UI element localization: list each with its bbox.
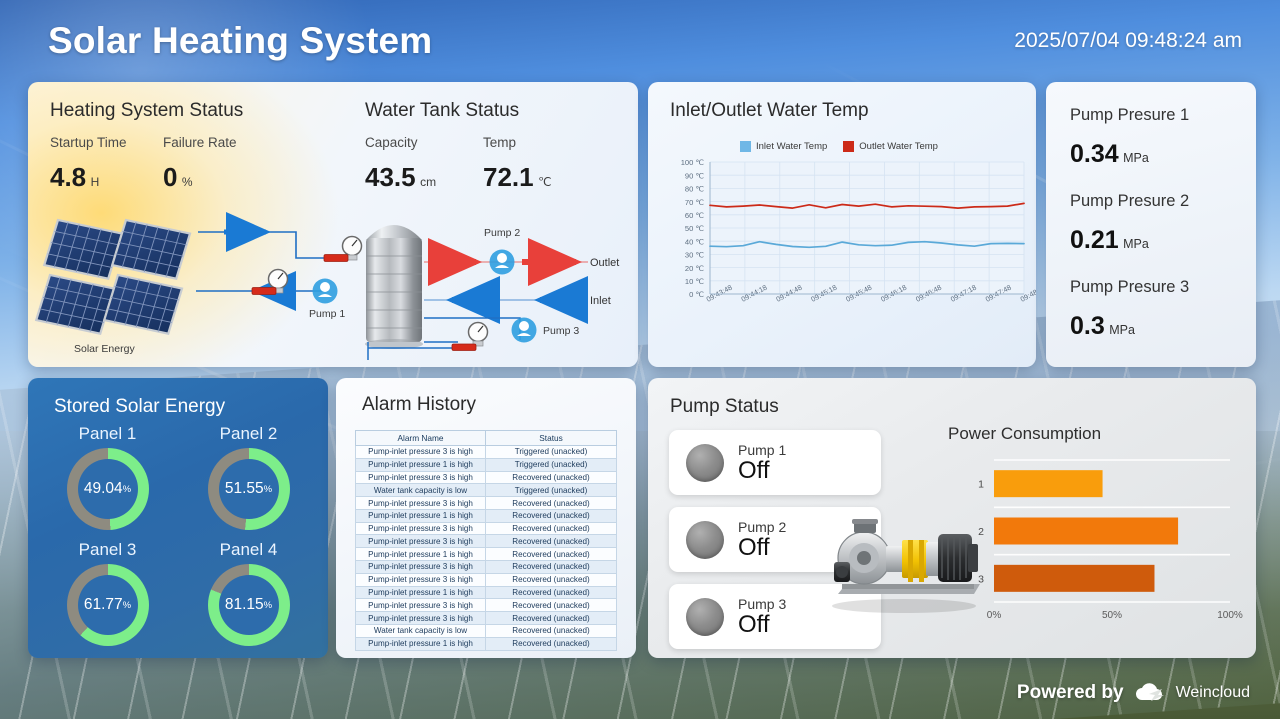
legend-swatch-outlet	[843, 141, 854, 152]
alarm-name-cell: Pump-inlet pressure 1 is high	[356, 586, 486, 599]
alarm-name-cell: Pump-inlet pressure 3 is high	[356, 599, 486, 612]
alarm-name-cell: Pump-inlet pressure 3 is high	[356, 573, 486, 586]
alarm-row[interactable]: Pump-inlet pressure 1 is highRecovered (…	[356, 509, 617, 522]
alarm-row[interactable]: Pump-inlet pressure 1 is highRecovered (…	[356, 548, 617, 561]
alarm-name-cell: Pump-inlet pressure 3 is high	[356, 535, 486, 548]
panel-2-gauge: 51.55%	[208, 448, 290, 530]
legend-item-outlet[interactable]: Outlet Water Temp	[843, 141, 938, 152]
panel-3-label: Panel 3	[56, 540, 159, 560]
alarm-row[interactable]: Pump-inlet pressure 3 is highRecovered (…	[356, 599, 617, 612]
alarm-status-cell: Recovered (unacked)	[486, 497, 617, 510]
footer-branding: Powered by Weincloud	[1017, 681, 1250, 705]
pump-1-name: Pump 1	[738, 442, 786, 458]
alarm-status-cell: Recovered (unacked)	[486, 637, 617, 650]
pump-3-state: Off	[738, 612, 786, 637]
kpi-label-temp: Temp	[483, 135, 552, 150]
alarm-status-cell: Triggered (unacked)	[486, 446, 617, 459]
panel-4-value: 81.15	[225, 596, 264, 614]
power-consumption-bar-chart[interactable]: 1230%50%100%	[964, 452, 1244, 642]
temperature-line-chart[interactable]: 0 ℃10 ℃20 ℃30 ℃40 ℃50 ℃60 ℃70 ℃80 ℃90 ℃1…	[648, 154, 1036, 359]
power-bar-category-label: 1	[978, 479, 984, 491]
kpi-label-failure-rate: Failure Rate	[163, 135, 237, 150]
panel-1-label: Panel 1	[56, 424, 159, 444]
panel-1-gauge: 49.04%	[67, 448, 149, 530]
panel-4-label: Panel 4	[197, 540, 300, 560]
valve-icon	[252, 288, 276, 295]
y-axis-tick: 60 ℃	[685, 211, 705, 220]
panel-2-value: 51.55	[225, 480, 264, 498]
pump-status-card: Pump Status Pump 1 Off Pump 2 Off Pump 3…	[648, 378, 1256, 658]
pump-pressure-3-value: 0.3	[1070, 312, 1105, 340]
kpi-unit-failure-rate: %	[182, 175, 193, 189]
panel-4-gauge: 81.15%	[208, 564, 290, 646]
power-x-axis-tick: 100%	[1217, 610, 1243, 621]
solar-gauge-panel-1[interactable]: Panel 1 49.04%	[56, 424, 159, 530]
alarm-status-cell: Recovered (unacked)	[486, 535, 617, 548]
y-axis-tick: 50 ℃	[685, 224, 705, 233]
alarm-row[interactable]: Water tank capacity is lowTriggered (una…	[356, 484, 617, 497]
brand-name: Weincloud	[1176, 684, 1250, 702]
alarm-row[interactable]: Pump-inlet pressure 3 is highRecovered (…	[356, 573, 617, 586]
alarm-name-cell: Water tank capacity is low	[356, 484, 486, 497]
solar-panel-array-icon	[36, 220, 190, 334]
kpi-value-failure-rate: 0	[163, 162, 177, 192]
centrifugal-pump-illustration	[824, 506, 984, 616]
alarm-row[interactable]: Pump-inlet pressure 3 is highRecovered (…	[356, 497, 617, 510]
legend-label-outlet: Outlet Water Temp	[859, 141, 938, 152]
y-axis-tick: 0 ℃	[689, 290, 704, 299]
power-bar-category-label: 3	[978, 573, 984, 585]
pump-1-state: Off	[738, 458, 786, 483]
alarm-status-cell: Recovered (unacked)	[486, 573, 617, 586]
power-bar[interactable]	[994, 470, 1103, 497]
chart-legend: Inlet Water Temp Outlet Water Temp	[740, 141, 938, 152]
pump-3-label: Pump 3	[543, 325, 579, 337]
legend-swatch-inlet	[740, 141, 751, 152]
alarm-status-cell: Recovered (unacked)	[486, 599, 617, 612]
pump-2-state: Off	[738, 535, 786, 560]
pump-3-status-led	[686, 598, 724, 636]
pump-2-icon	[490, 250, 515, 275]
page-title: Solar Heating System	[48, 20, 432, 62]
power-bar[interactable]	[994, 518, 1178, 545]
kpi-value-temp: 72.1	[483, 162, 534, 192]
water-tank-status-title: Water Tank Status	[365, 100, 519, 122]
y-axis-tick: 100 ℃	[681, 158, 705, 167]
pressure-gauge-icon	[469, 323, 488, 347]
pump-1-icon	[313, 279, 338, 304]
y-axis-tick: 80 ℃	[685, 185, 705, 194]
heating-system-overview-card: Heating System Status Water Tank Status …	[28, 82, 638, 367]
pump-status-title: Pump Status	[670, 396, 779, 418]
pump-pressure-2-value: 0.21	[1070, 226, 1119, 254]
panel-4-unit: %	[264, 600, 272, 611]
alarm-status-cell: Triggered (unacked)	[486, 458, 617, 471]
alarm-name-cell: Pump-inlet pressure 3 is high	[356, 612, 486, 625]
alarm-name-cell: Pump-inlet pressure 3 is high	[356, 471, 486, 484]
pump-1-label: Pump 1	[309, 308, 345, 320]
panel-3-value: 61.77	[84, 596, 123, 614]
alarm-status-cell: Recovered (unacked)	[486, 612, 617, 625]
alarm-history-card: Alarm History Alarm Name Status Pump-inl…	[336, 378, 636, 658]
y-axis-tick: 70 ℃	[685, 198, 705, 207]
kpi-value-capacity: 43.5	[365, 162, 416, 192]
kpi-value-startup-time: 4.8	[50, 162, 86, 192]
pump-1-status-led	[686, 444, 724, 482]
system-schematic-diagram: Solar Energy Pump 1	[28, 200, 638, 360]
panel-1-unit: %	[123, 484, 131, 495]
alarm-table-header-row: Alarm Name Status	[356, 431, 617, 446]
alarm-row[interactable]: Pump-inlet pressure 1 is highRecovered (…	[356, 586, 617, 599]
pump-pressure-3-unit: MPa	[1109, 323, 1135, 337]
alarm-status-cell: Recovered (unacked)	[486, 548, 617, 561]
alarm-name-cell: Water tank capacity is low	[356, 624, 486, 637]
pump-2-label: Pump 2	[484, 227, 520, 239]
kpi-unit-capacity: cm	[420, 175, 436, 189]
power-x-axis-tick: 0%	[987, 610, 1002, 621]
kpi-label-startup-time: Startup Time	[50, 135, 127, 150]
alarm-status-cell: Recovered (unacked)	[486, 586, 617, 599]
alarm-row[interactable]: Water tank capacity is lowRecovered (una…	[356, 624, 617, 637]
panel-2-unit: %	[264, 484, 272, 495]
solar-gauge-panel-3[interactable]: Panel 3 61.77%	[56, 540, 159, 646]
panel-3-unit: %	[123, 600, 131, 611]
alarm-status-cell: Recovered (unacked)	[486, 471, 617, 484]
power-bar-category-label: 2	[978, 526, 984, 538]
solar-gauge-grid: Panel 1 49.04% Panel 2 51.55% Panel 3	[56, 424, 300, 646]
outlet-label: Outlet	[590, 257, 619, 269]
alarm-row[interactable]: Pump-inlet pressure 3 is highTriggered (…	[356, 446, 617, 459]
powered-by-text: Powered by	[1017, 682, 1124, 704]
pump-pressure-2-unit: MPa	[1123, 237, 1149, 251]
alarm-status-cell: Recovered (unacked)	[486, 561, 617, 574]
alarm-name-cell: Pump-inlet pressure 1 is high	[356, 509, 486, 522]
y-axis-tick: 40 ℃	[685, 237, 705, 246]
solar-energy-label: Solar Energy	[74, 343, 135, 355]
pump-pressure-3-label: Pump Presure 3	[1070, 278, 1189, 297]
alarm-row[interactable]: Pump-inlet pressure 3 is highRecovered (…	[356, 471, 617, 484]
water-tank-icon	[365, 225, 423, 349]
inlet-label: Inlet	[590, 295, 611, 307]
alarm-row[interactable]: Pump-inlet pressure 3 is highRecovered (…	[356, 561, 617, 574]
pump-pressure-2-label: Pump Presure 2	[1070, 192, 1189, 211]
stored-solar-energy-title: Stored Solar Energy	[54, 396, 225, 418]
chart-title: Inlet/Outlet Water Temp	[670, 100, 869, 122]
alarm-name-cell: Pump-inlet pressure 1 is high	[356, 458, 486, 471]
panel-1-value: 49.04	[84, 480, 123, 498]
pump-3-name: Pump 3	[738, 596, 786, 612]
pump-pressure-card: Pump Presure 1 0.34 MPa Pump Presure 2 0…	[1046, 82, 1256, 367]
alarm-name-cell: Pump-inlet pressure 3 is high	[356, 497, 486, 510]
kpi-unit-temp: ℃	[538, 175, 551, 189]
legend-item-inlet[interactable]: Inlet Water Temp	[740, 141, 827, 152]
heating-system-status-title: Heating System Status	[50, 100, 243, 122]
pump-pressure-1-label: Pump Presure 1	[1070, 106, 1189, 125]
power-bar[interactable]	[994, 565, 1154, 592]
y-axis-tick: 90 ℃	[685, 171, 705, 180]
y-axis-tick: 30 ℃	[685, 251, 705, 260]
y-axis-tick: 10 ℃	[685, 277, 705, 286]
power-consumption-title: Power Consumption	[948, 424, 1101, 444]
alarm-column-status: Status	[486, 431, 617, 446]
panel-3-gauge: 61.77%	[67, 564, 149, 646]
kpi-label-capacity: Capacity	[365, 135, 436, 150]
pump-3-icon	[512, 318, 537, 343]
solar-gauge-panel-2[interactable]: Panel 2 51.55%	[197, 424, 300, 530]
alarm-status-cell: Recovered (unacked)	[486, 624, 617, 637]
datetime-display: 2025/07/04 09:48:24 am	[1014, 29, 1242, 53]
pump-status-row-1[interactable]: Pump 1 Off	[669, 430, 881, 495]
alarm-name-cell: Pump-inlet pressure 3 is high	[356, 561, 486, 574]
solar-gauge-panel-4[interactable]: Panel 4 81.15%	[197, 540, 300, 646]
pump-pressure-1-value: 0.34	[1070, 140, 1119, 168]
page-header: Solar Heating System 2025/07/04 09:48:24…	[0, 0, 1280, 78]
alarm-name-cell: Pump-inlet pressure 1 is high	[356, 548, 486, 561]
alarm-name-cell: Pump-inlet pressure 3 is high	[356, 446, 486, 459]
kpi-unit-startup-time: H	[91, 175, 100, 189]
panel-2-label: Panel 2	[197, 424, 300, 444]
pump-2-status-led	[686, 521, 724, 559]
alarm-table-wrapper[interactable]: Alarm Name Status Pump-inlet pressure 3 …	[355, 430, 617, 651]
alarm-row[interactable]: Pump-inlet pressure 3 is highRecovered (…	[356, 612, 617, 625]
stored-solar-energy-card: Stored Solar Energy Panel 1 49.04% Panel…	[28, 378, 328, 658]
alarm-history-table: Alarm Name Status Pump-inlet pressure 3 …	[355, 430, 617, 651]
alarm-row[interactable]: Pump-inlet pressure 1 is highRecovered (…	[356, 637, 617, 650]
alarm-row[interactable]: Pump-inlet pressure 3 is highRecovered (…	[356, 522, 617, 535]
alarm-name-cell: Pump-inlet pressure 3 is high	[356, 522, 486, 535]
alarm-status-cell: Recovered (unacked)	[486, 509, 617, 522]
alarm-history-title: Alarm History	[362, 394, 476, 416]
alarm-status-cell: Recovered (unacked)	[486, 522, 617, 535]
weincloud-logo-icon	[1133, 681, 1167, 705]
alarm-name-cell: Pump-inlet pressure 1 is high	[356, 637, 486, 650]
power-x-axis-tick: 50%	[1102, 610, 1122, 621]
inlet-outlet-temp-chart-card: Inlet/Outlet Water Temp Inlet Water Temp…	[648, 82, 1036, 367]
legend-label-inlet: Inlet Water Temp	[756, 141, 827, 152]
alarm-row[interactable]: Pump-inlet pressure 1 is highTriggered (…	[356, 458, 617, 471]
alarm-column-name: Alarm Name	[356, 431, 486, 446]
pump-pressure-1-unit: MPa	[1123, 151, 1149, 165]
alarm-row[interactable]: Pump-inlet pressure 3 is highRecovered (…	[356, 535, 617, 548]
y-axis-tick: 20 ℃	[685, 264, 705, 273]
valve-icon	[452, 344, 476, 351]
alarm-status-cell: Triggered (unacked)	[486, 484, 617, 497]
valve-icon	[324, 255, 348, 262]
pump-2-name: Pump 2	[738, 519, 786, 535]
